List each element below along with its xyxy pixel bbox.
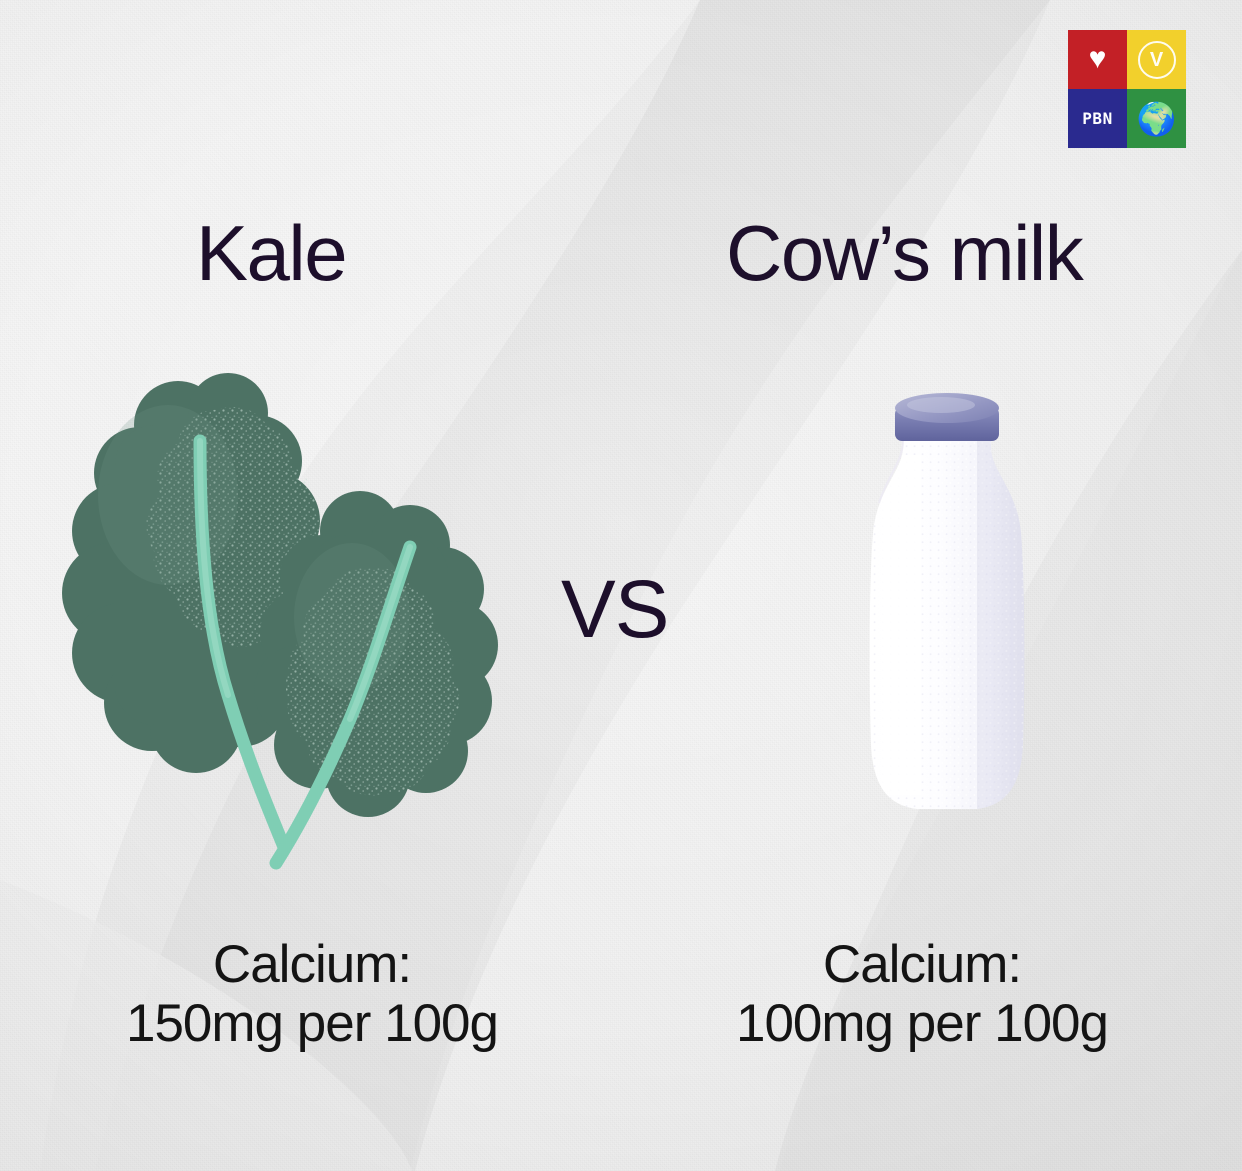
pbn-wordmark: PBN: [1082, 109, 1112, 128]
left-nutrient-caption: Calcium: 150mg per 100g: [52, 935, 572, 1054]
globe-icon: 🌍: [1137, 103, 1177, 135]
right-item-title: Cow’s milk: [726, 208, 1082, 299]
left-nutrient-value: 150mg per 100g: [52, 994, 572, 1053]
milk-bottle-illustration: [845, 385, 1075, 860]
plant-based-news-logo[interactable]: ♥ V PBN 🌍: [1068, 30, 1186, 148]
logo-tile-heart: ♥: [1068, 30, 1127, 89]
left-nutrient-label: Calcium:: [213, 935, 411, 994]
infographic-canvas: Kale Cow’s milk: [0, 0, 1242, 1171]
logo-tile-pbn: PBN: [1068, 89, 1127, 148]
left-item-title: Kale: [196, 208, 346, 299]
heart-icon: ♥: [1089, 44, 1107, 74]
logo-tile-globe: 🌍: [1127, 89, 1186, 148]
logo-tile-vegan: V: [1127, 30, 1186, 89]
right-nutrient-label: Calcium:: [823, 935, 1021, 994]
kale-illustration: [60, 355, 520, 875]
vegan-v-icon: V: [1138, 41, 1176, 79]
kale-leaf-right: [254, 491, 520, 863]
right-nutrient-value: 100mg per 100g: [662, 994, 1182, 1053]
vs-label: VS: [561, 563, 668, 657]
right-nutrient-caption: Calcium: 100mg per 100g: [662, 935, 1182, 1054]
